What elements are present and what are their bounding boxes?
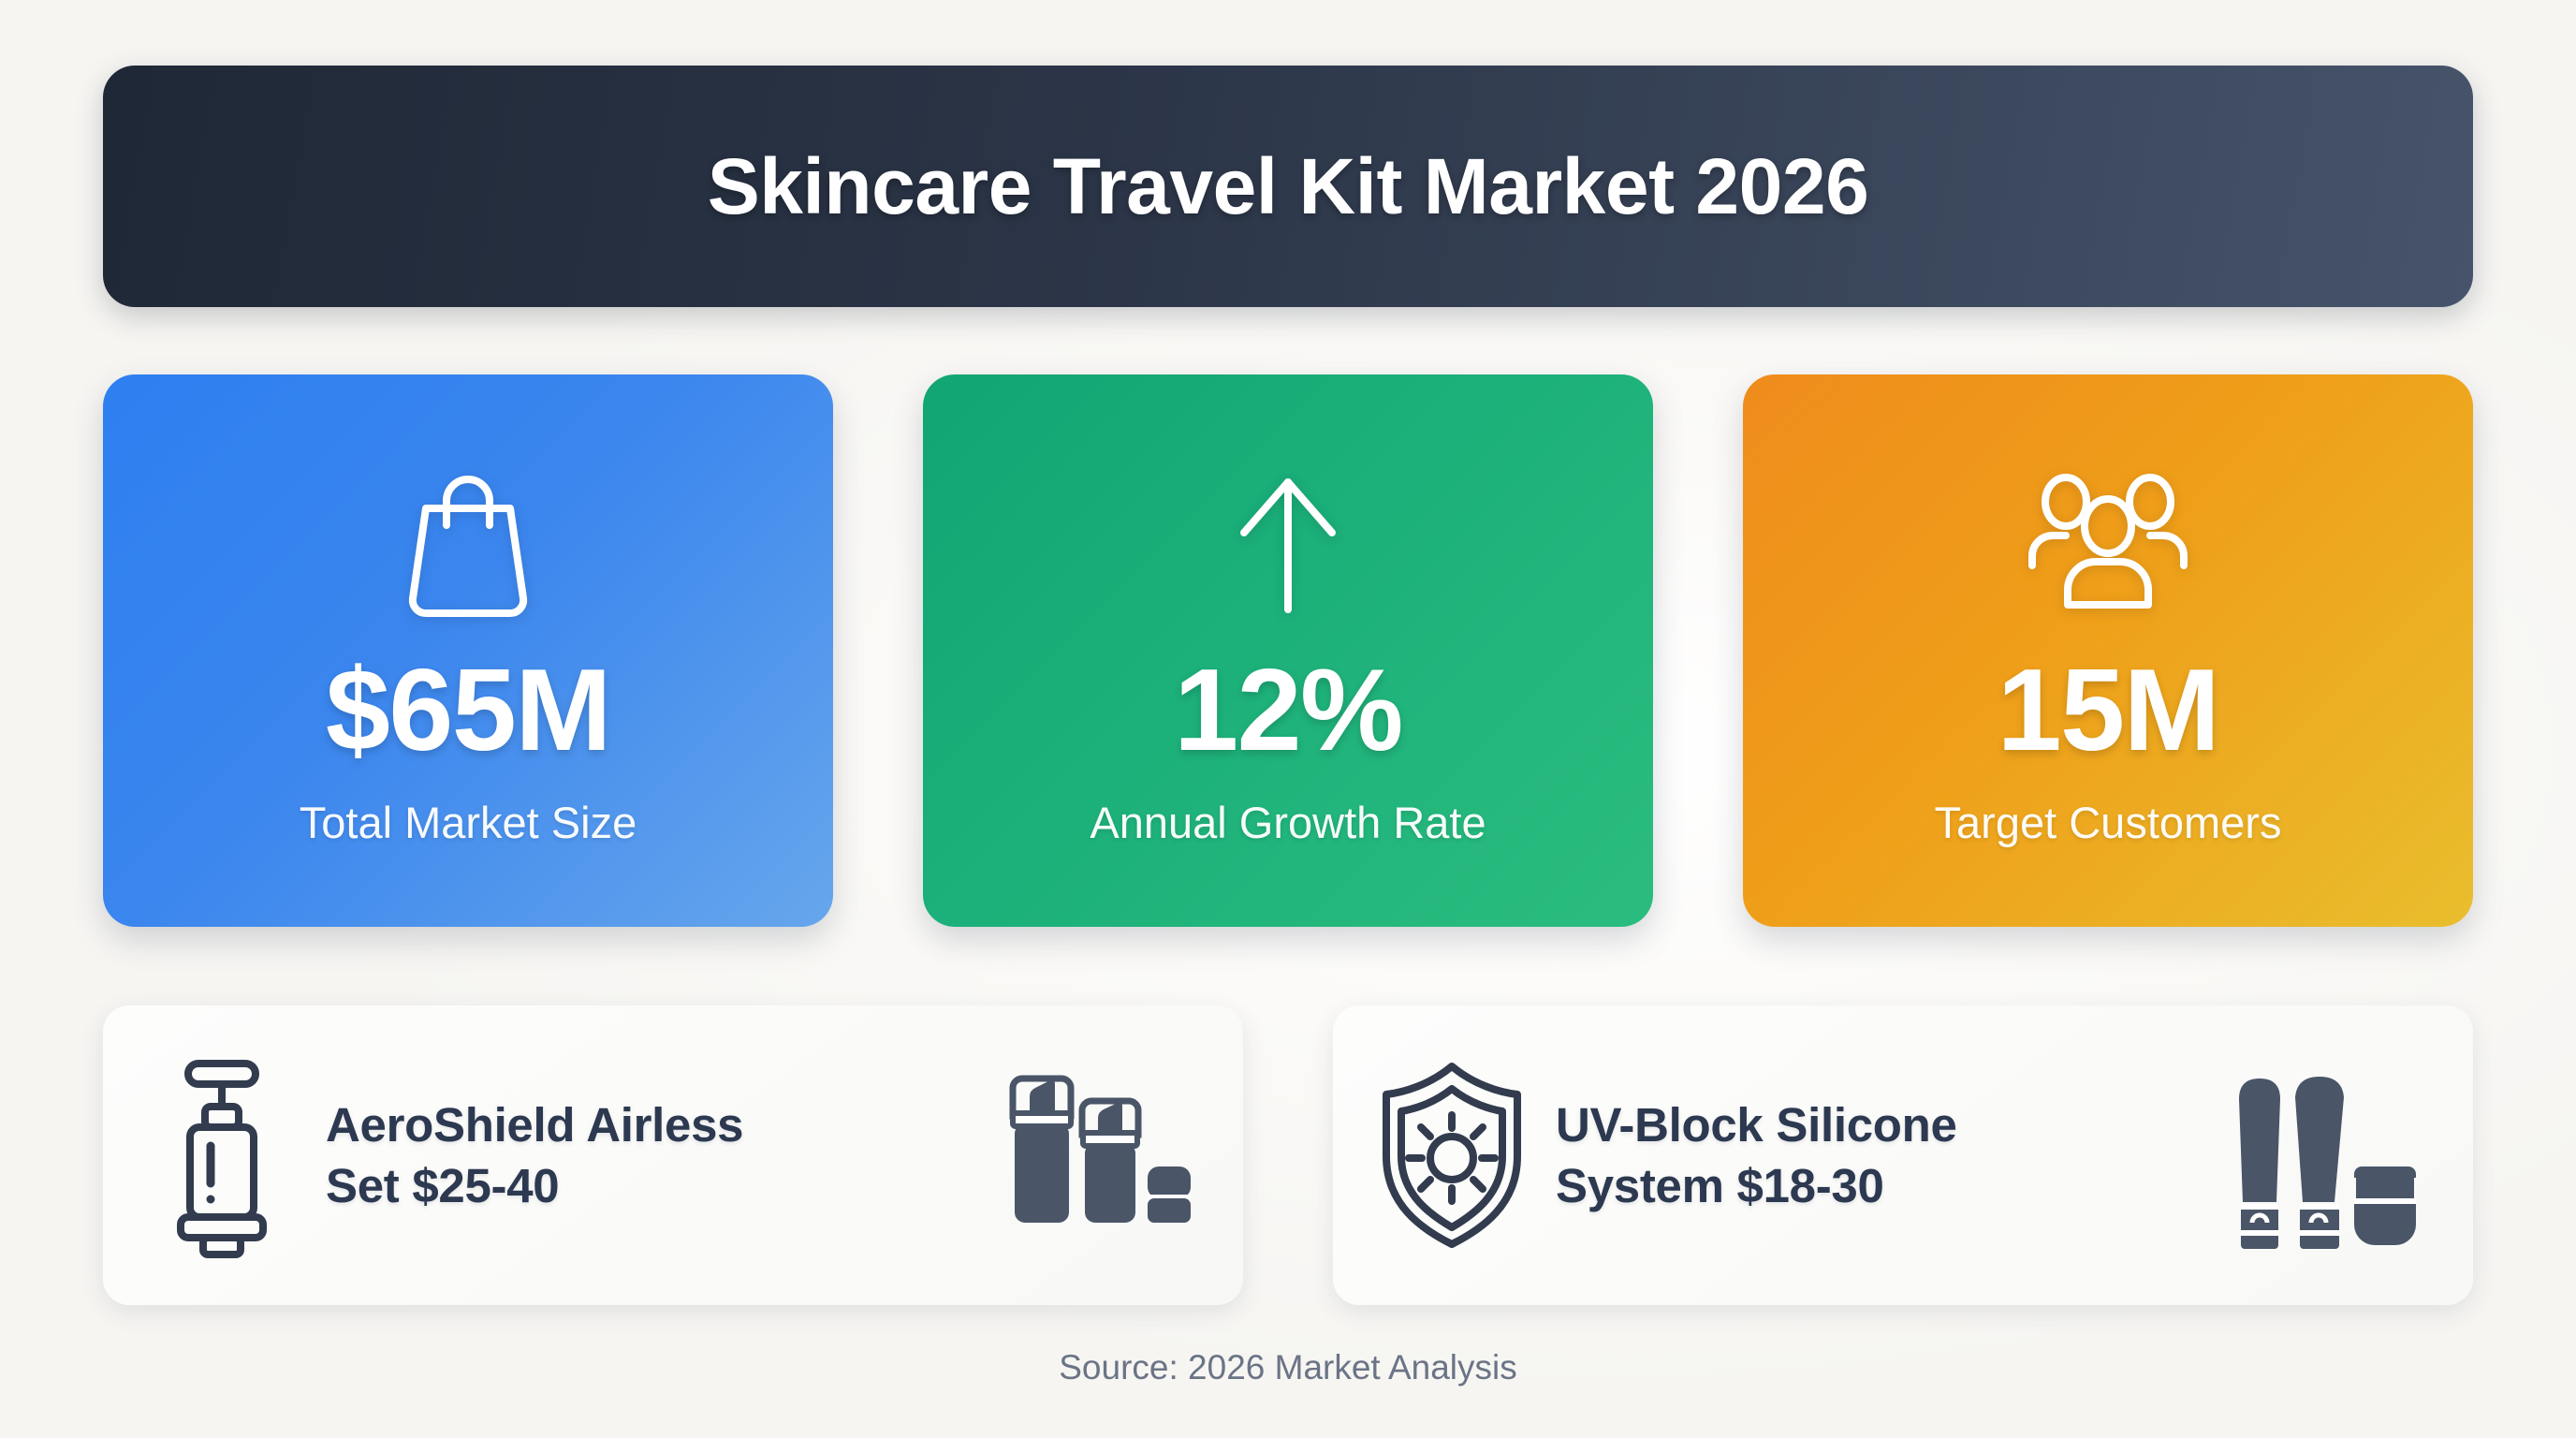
page-title: Skincare Travel Kit Market 2026 [708,141,1869,232]
footer: Source: 2026 Market Analysis [103,1348,2473,1387]
stat-card-total-market-size: $65M Total Market Size [103,374,833,927]
product-name-line2: Set $25-40 [326,1155,973,1216]
shield-sun-icon [1372,1057,1531,1254]
stat-value: 15M [1998,653,2219,769]
stat-value: 12% [1174,653,1402,769]
stat-card-annual-growth-rate: 12% Annual Growth Rate [923,374,1653,927]
product-cards-row: AeroShield Airless Set $25-40 [103,1005,2473,1305]
header-banner: Skincare Travel Kit Market 2026 [103,66,2473,307]
airless-pump-icon [142,1052,301,1258]
product-name: AeroShield Airless Set $25-40 [326,1094,973,1217]
stat-cards-row: $65M Total Market Size 12% Annual Growth… [103,374,2473,927]
product-name: UV-Block Silicone System $18-30 [1556,1094,2203,1217]
product-card-aeroshield: AeroShield Airless Set $25-40 [103,1005,1243,1305]
infographic-page: Skincare Travel Kit Market 2026 $65M Tot… [0,0,2576,1438]
product-name-line1: AeroShield Airless [326,1094,973,1155]
stat-label: Annual Growth Rate [1090,797,1486,848]
stat-label: Target Customers [1935,797,2282,848]
shopping-bag-icon [398,454,538,632]
people-group-icon [2019,454,2197,632]
arrow-up-icon [1227,454,1349,632]
stat-value: $65M [326,653,610,769]
product-card-uv-block: UV-Block Silicone System $18-30 [1333,1005,2473,1305]
silicone-tubes-and-jar-illustration [2227,1062,2428,1249]
source-note: Source: 2026 Market Analysis [1059,1348,1516,1387]
product-name-line1: UV-Block Silicone [1556,1094,2203,1155]
pump-bottles-and-jar-illustration [997,1062,1198,1249]
product-name-line2: System $18-30 [1556,1155,2203,1216]
stat-label: Total Market Size [300,797,637,848]
stat-card-target-customers: 15M Target Customers [1743,374,2473,927]
